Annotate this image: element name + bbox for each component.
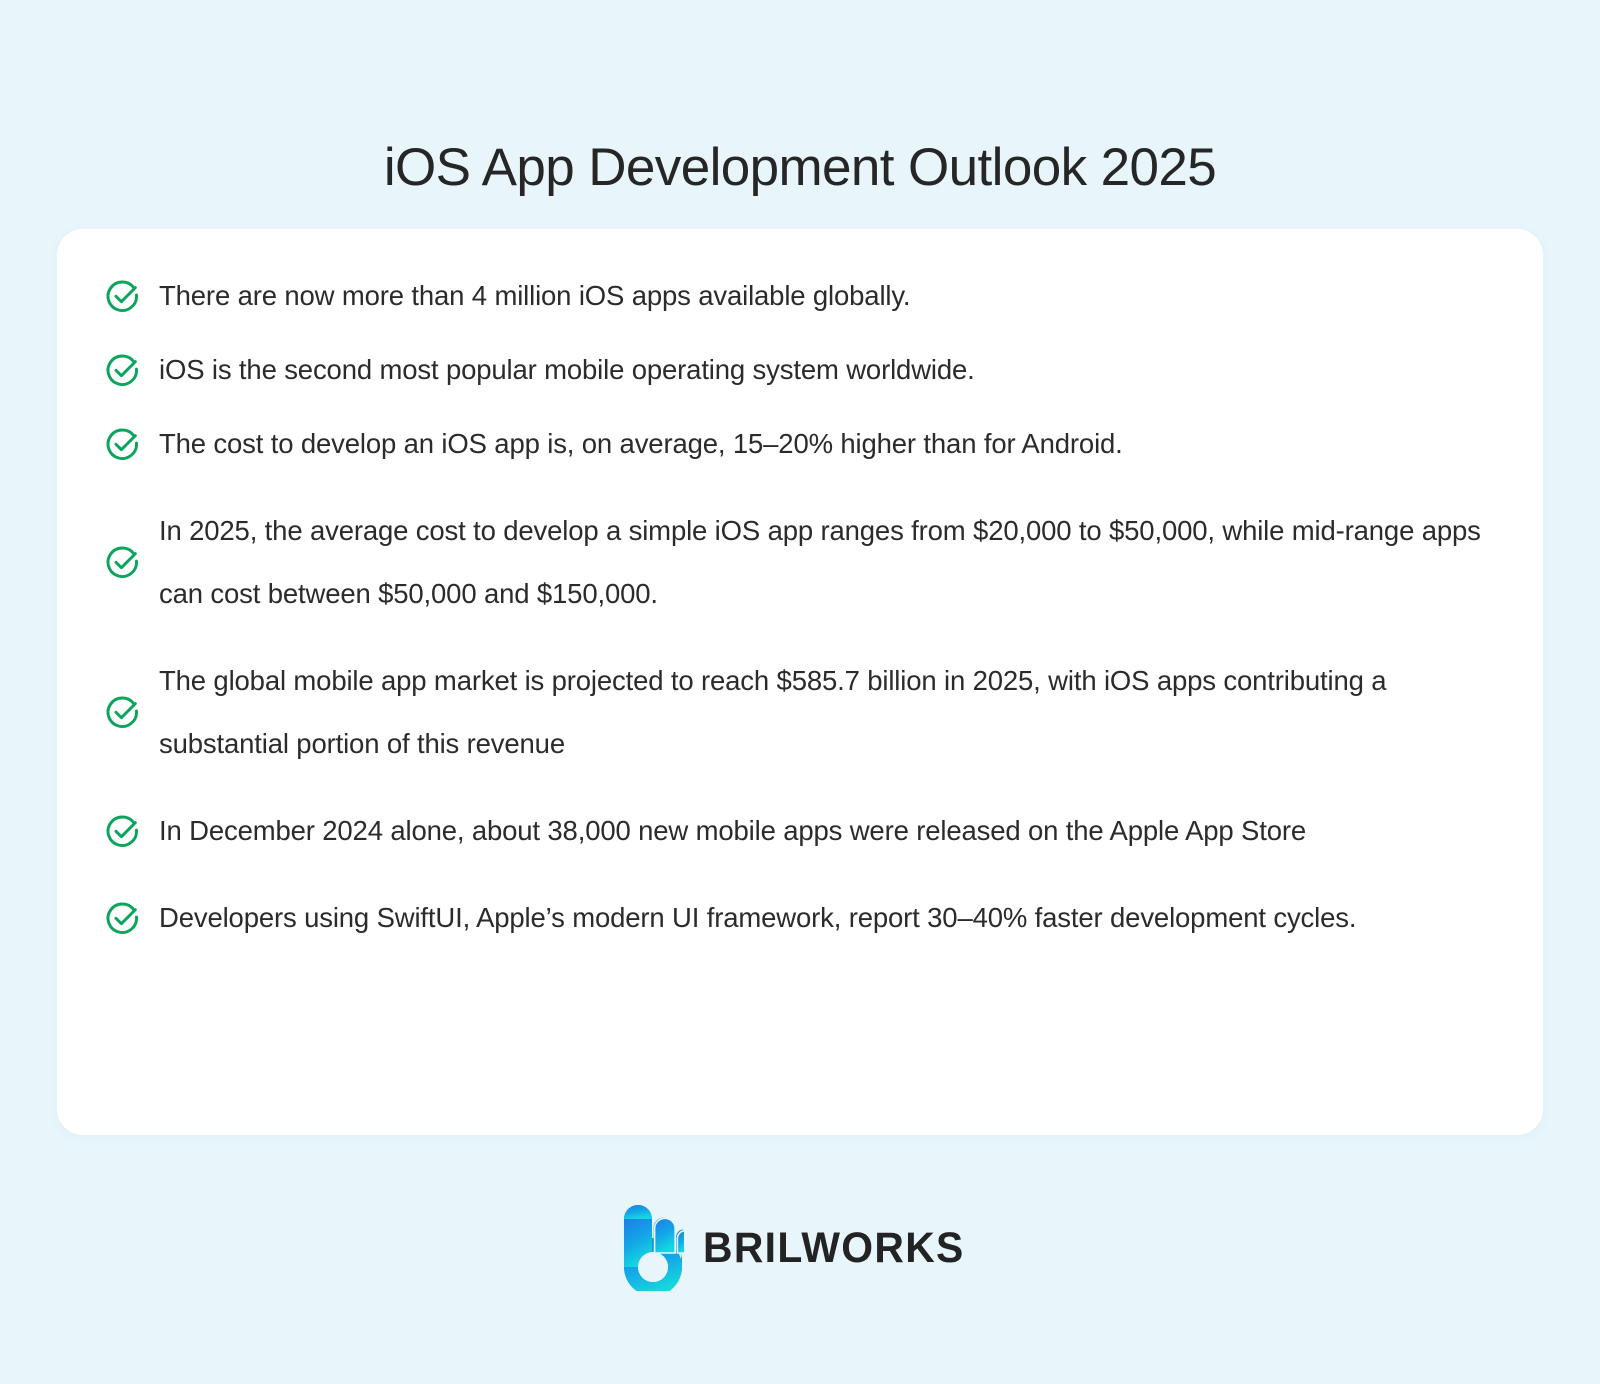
fact-text: The cost to develop an iOS app is, on av…: [159, 426, 1123, 462]
check-circle-icon: [104, 277, 142, 315]
list-item: Developers using SwiftUI, Apple’s modern…: [101, 886, 1499, 949]
fact-text: The global mobile app market is projecte…: [159, 649, 1489, 775]
fact-text: There are now more than 4 million iOS ap…: [159, 278, 910, 314]
brilworks-b-logo-icon: [622, 1205, 684, 1291]
list-item: The cost to develop an iOS app is, on av…: [101, 425, 1499, 463]
check-circle-icon: [104, 693, 142, 731]
list-item: The global mobile app market is projecte…: [101, 649, 1499, 775]
fact-text: In December 2024 alone, about 38,000 new…: [159, 799, 1306, 862]
list-item: In 2025, the average cost to develop a s…: [101, 499, 1499, 625]
list-item: iOS is the second most popular mobile op…: [101, 351, 1499, 389]
list-item: There are now more than 4 million iOS ap…: [101, 277, 1499, 315]
fact-text: iOS is the second most popular mobile op…: [159, 352, 975, 388]
facts-card: There are now more than 4 million iOS ap…: [57, 229, 1543, 1135]
infographic-page: iOS App Development Outlook 2025 There a…: [0, 0, 1600, 1384]
footer-branding: BRILWORKS: [0, 1205, 1600, 1291]
list-item: In December 2024 alone, about 38,000 new…: [101, 799, 1499, 862]
check-circle-icon: [104, 425, 142, 463]
fact-text: In 2025, the average cost to develop a s…: [159, 499, 1489, 625]
brand-name: BRILWORKS: [703, 1227, 965, 1270]
check-circle-icon: [104, 899, 142, 937]
facts-list: There are now more than 4 million iOS ap…: [101, 277, 1499, 949]
check-circle-icon: [104, 351, 142, 389]
check-circle-icon: [104, 812, 142, 850]
check-circle-icon: [104, 543, 142, 581]
fact-text: Developers using SwiftUI, Apple’s modern…: [159, 886, 1356, 949]
page-title: iOS App Development Outlook 2025: [0, 134, 1600, 202]
